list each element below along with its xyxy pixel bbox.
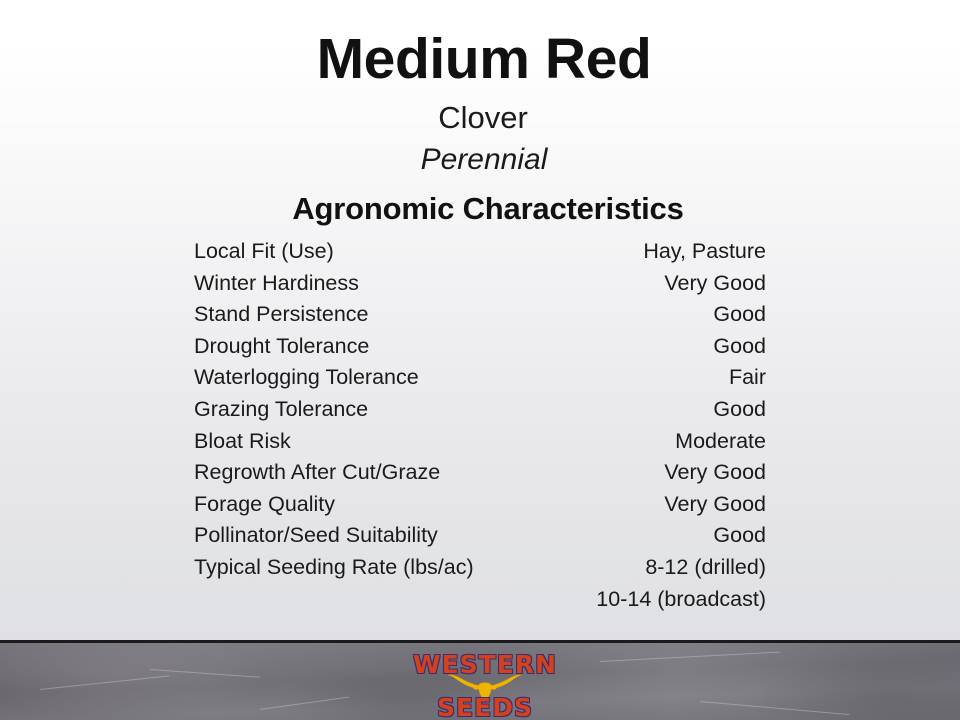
characteristic-label: Stand Persistence <box>194 299 369 331</box>
stone-texture-streak <box>40 675 169 690</box>
table-row: 10-14 (broadcast) <box>194 584 766 616</box>
characteristic-value: Fair <box>729 362 766 394</box>
footer-band: WESTERN SEEDS <box>0 640 960 720</box>
section-heading: Agronomic Characteristics <box>0 193 960 224</box>
stone-texture-streak <box>700 701 850 715</box>
characteristic-label: Typical Seeding Rate (lbs/ac) <box>194 552 474 584</box>
characteristic-value: Good <box>713 331 766 363</box>
brand-logo[interactable]: WESTERN SEEDS <box>405 652 565 720</box>
table-row: Pollinator/Seed SuitabilityGood <box>194 520 766 552</box>
table-row: Local Fit (Use)Hay, Pasture <box>194 236 766 268</box>
characteristic-label: Local Fit (Use) <box>194 236 334 268</box>
logo-word-seeds: SEEDS <box>405 695 565 720</box>
table-row: Waterlogging ToleranceFair <box>194 362 766 394</box>
characteristic-value: 10-14 (broadcast) <box>596 584 766 616</box>
slide-canvas: Medium Red Clover Perennial Agronomic Ch… <box>0 0 960 720</box>
subtitle-species: Clover <box>0 102 960 133</box>
characteristic-value: 8-12 (drilled) <box>645 552 766 584</box>
characteristic-label: Forage Quality <box>194 489 335 521</box>
characteristic-value: Very Good <box>664 489 766 521</box>
stone-texture-streak <box>600 652 780 662</box>
table-row: Drought ToleranceGood <box>194 331 766 363</box>
stone-texture-streak <box>150 669 260 678</box>
characteristic-label: Regrowth After Cut/Graze <box>194 457 440 489</box>
stone-texture-streak <box>260 696 349 710</box>
characteristic-label: Drought Tolerance <box>194 331 369 363</box>
characteristic-label: Waterlogging Tolerance <box>194 362 419 394</box>
table-row: Stand PersistenceGood <box>194 299 766 331</box>
subtitle-lifecycle: Perennial <box>0 145 960 175</box>
characteristic-label: Grazing Tolerance <box>194 394 368 426</box>
agronomic-characteristics-table: Local Fit (Use)Hay, PastureWinter Hardin… <box>194 236 766 615</box>
characteristic-label: Bloat Risk <box>194 426 291 458</box>
table-row: Grazing ToleranceGood <box>194 394 766 426</box>
characteristic-value: Very Good <box>664 268 766 300</box>
characteristic-value: Good <box>713 299 766 331</box>
characteristic-value: Moderate <box>675 426 766 458</box>
characteristic-label: Winter Hardiness <box>194 268 359 300</box>
table-row: Regrowth After Cut/GrazeVery Good <box>194 457 766 489</box>
characteristic-value: Hay, Pasture <box>643 236 766 268</box>
characteristic-value: Very Good <box>664 457 766 489</box>
characteristic-label: Pollinator/Seed Suitability <box>194 520 438 552</box>
table-row: Typical Seeding Rate (lbs/ac)8-12 (drill… <box>194 552 766 584</box>
table-row: Forage QualityVery Good <box>194 489 766 521</box>
characteristic-value: Good <box>713 394 766 426</box>
table-row: Winter HardinessVery Good <box>194 268 766 300</box>
characteristic-value: Good <box>713 520 766 552</box>
page-title: Medium Red <box>0 31 960 88</box>
table-row: Bloat RiskModerate <box>194 426 766 458</box>
